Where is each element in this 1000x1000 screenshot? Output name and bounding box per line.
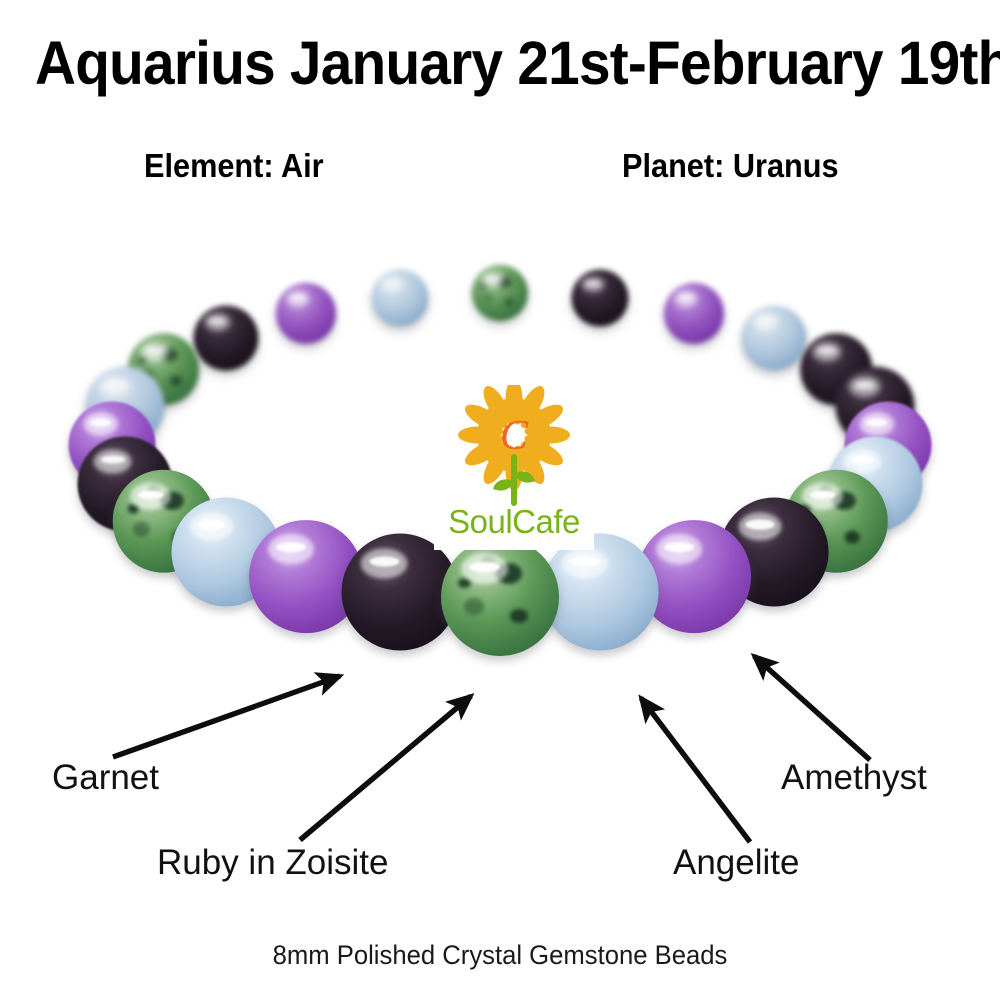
bead-highlight xyxy=(197,520,225,529)
bead-inclusion xyxy=(496,563,522,584)
bead-highlight xyxy=(817,348,836,354)
bead-highlight xyxy=(209,318,226,324)
bead-highlight xyxy=(290,295,306,300)
bead-highlight xyxy=(865,419,888,426)
bead-inclusion xyxy=(162,348,178,361)
bead-garnet xyxy=(193,305,258,370)
bead-inclusion xyxy=(491,273,498,279)
callout-label-garnet: Garnet xyxy=(52,758,159,798)
bead-inclusion xyxy=(458,578,471,589)
bead-highlight xyxy=(89,419,112,426)
bead-inclusion xyxy=(153,344,162,351)
planet-label: Planet: Uranus xyxy=(622,147,839,185)
bead-gloss xyxy=(859,413,894,436)
bead-inclusion xyxy=(510,609,528,624)
bead-highlight xyxy=(385,281,400,286)
bead-inclusion xyxy=(161,491,184,509)
bead-inclusion xyxy=(845,531,860,544)
bead-inclusion xyxy=(128,504,139,513)
bead-garnet xyxy=(572,270,629,327)
monogram-c-icon: C xyxy=(500,413,529,459)
callout-label-amethyst: Amethyst xyxy=(781,758,927,798)
sunflower-icon: C xyxy=(439,385,589,507)
bead-gloss xyxy=(94,449,132,474)
callout-label-ruby-in-zoisite: Ruby in Zoisite xyxy=(157,843,388,883)
bead-inclusion xyxy=(170,376,181,385)
bead-inclusion xyxy=(133,522,150,536)
bead-highlight xyxy=(105,382,126,389)
bead-inclusion xyxy=(833,491,856,509)
bead-gloss xyxy=(268,535,314,565)
bead-gloss xyxy=(361,549,408,579)
element-label: Element: Air xyxy=(144,147,324,185)
arrow-garnet xyxy=(113,676,340,757)
bead-inclusion xyxy=(139,357,147,363)
callout-label-angelite: Angelite xyxy=(673,843,799,883)
bead-inclusion xyxy=(480,284,486,289)
bead-highlight xyxy=(664,542,694,552)
bead-gloss xyxy=(562,549,609,579)
bead-highlight xyxy=(746,520,774,529)
bead-gloss xyxy=(753,313,779,330)
page-title: Aquarius January 21st-February 19th xyxy=(35,28,965,98)
bead-inclusion xyxy=(464,598,484,614)
bead-inclusion xyxy=(483,294,493,302)
bead-highlight xyxy=(570,557,600,567)
bead-gloss xyxy=(582,277,605,292)
bead-gloss xyxy=(849,376,881,397)
bead-gloss xyxy=(843,449,881,474)
bead-highlight xyxy=(757,318,774,324)
footer-caption: 8mm Polished Crystal Gemstone Beads xyxy=(25,940,975,971)
bead-gloss xyxy=(812,343,841,362)
brand-name: SoulCafe xyxy=(434,503,594,541)
bead-angelite xyxy=(742,305,807,370)
bead-zoisite xyxy=(441,538,559,656)
bead-inclusion xyxy=(148,485,160,495)
bead-gloss xyxy=(674,291,698,307)
bead-highlight xyxy=(586,281,601,286)
brand-logo: C SoulCafe xyxy=(434,385,594,550)
bead-gloss xyxy=(99,376,131,397)
product-image-canvas: Aquarius January 21st-February 19th Elem… xyxy=(0,0,1000,1000)
bead-inclusion xyxy=(820,485,832,495)
bead-angelite xyxy=(542,533,659,650)
bead-highlight xyxy=(678,295,694,300)
bead-highlight xyxy=(854,382,875,389)
bead-gloss xyxy=(190,512,234,540)
bead-highlight xyxy=(369,557,399,567)
bead-angelite xyxy=(371,270,428,327)
bead-inclusion xyxy=(481,556,495,568)
bead-highlight xyxy=(850,456,875,464)
bead-gloss xyxy=(286,291,310,307)
bead-inclusion xyxy=(505,299,513,306)
bead-gloss xyxy=(738,512,782,540)
bead-gloss xyxy=(656,535,702,565)
arrow-angelite xyxy=(641,698,750,842)
bead-gloss xyxy=(204,313,230,330)
bead-highlight xyxy=(276,542,306,552)
bead-amethyst xyxy=(276,283,336,343)
bead-amethyst xyxy=(664,283,724,343)
arrow-ruby-in-zoisite xyxy=(300,696,471,840)
bead-zoisite xyxy=(472,265,528,321)
bead-gloss xyxy=(83,413,118,436)
bead-gloss xyxy=(381,277,404,292)
bead-inclusion xyxy=(498,277,510,287)
bead-highlight xyxy=(101,456,126,464)
